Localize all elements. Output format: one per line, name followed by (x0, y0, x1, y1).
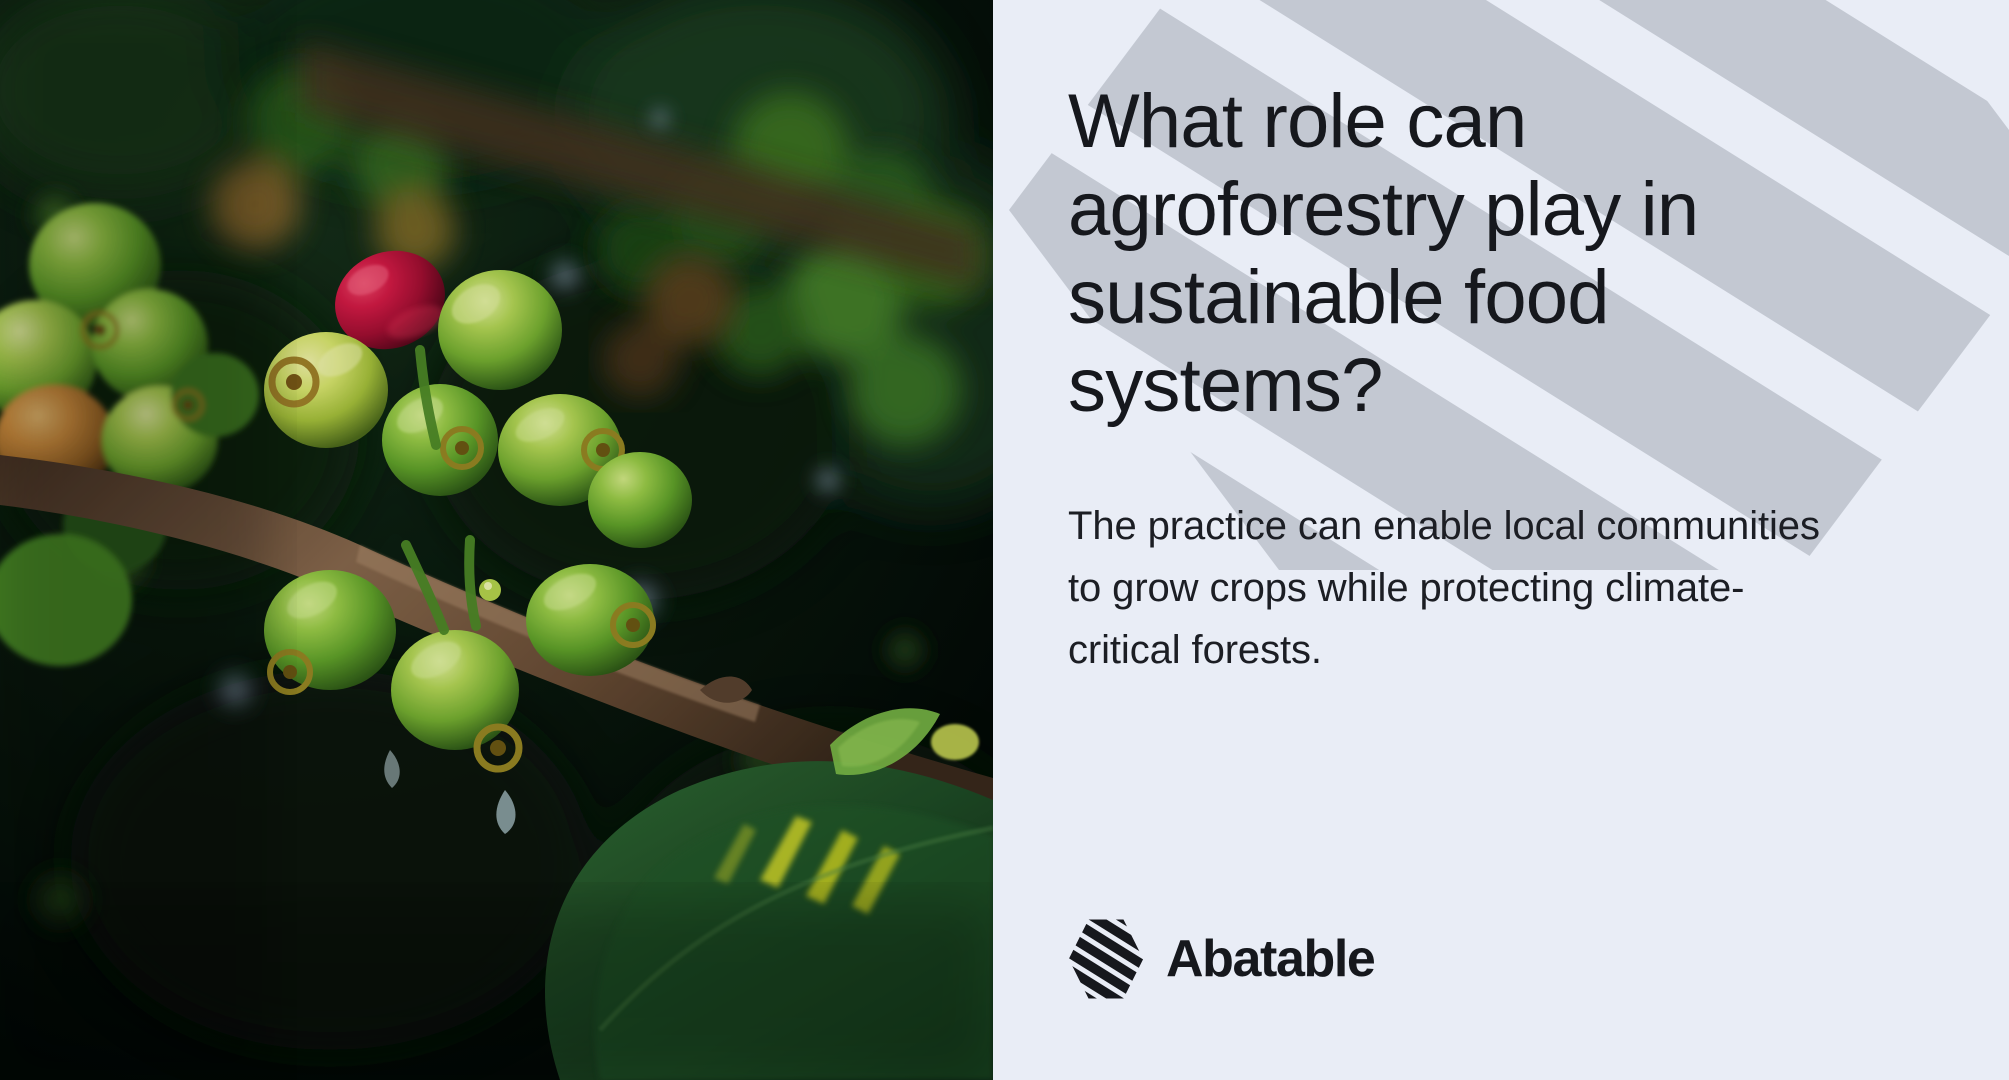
page-title: What role can agroforestry play in susta… (1068, 78, 1828, 431)
coffee-cherries-photo (0, 0, 993, 1080)
social-share-card: What role can agroforestry play in susta… (0, 0, 2009, 1080)
subtitle: The practice can enable local communitie… (1068, 495, 1848, 681)
content-panel: What role can agroforestry play in susta… (993, 0, 2009, 1080)
